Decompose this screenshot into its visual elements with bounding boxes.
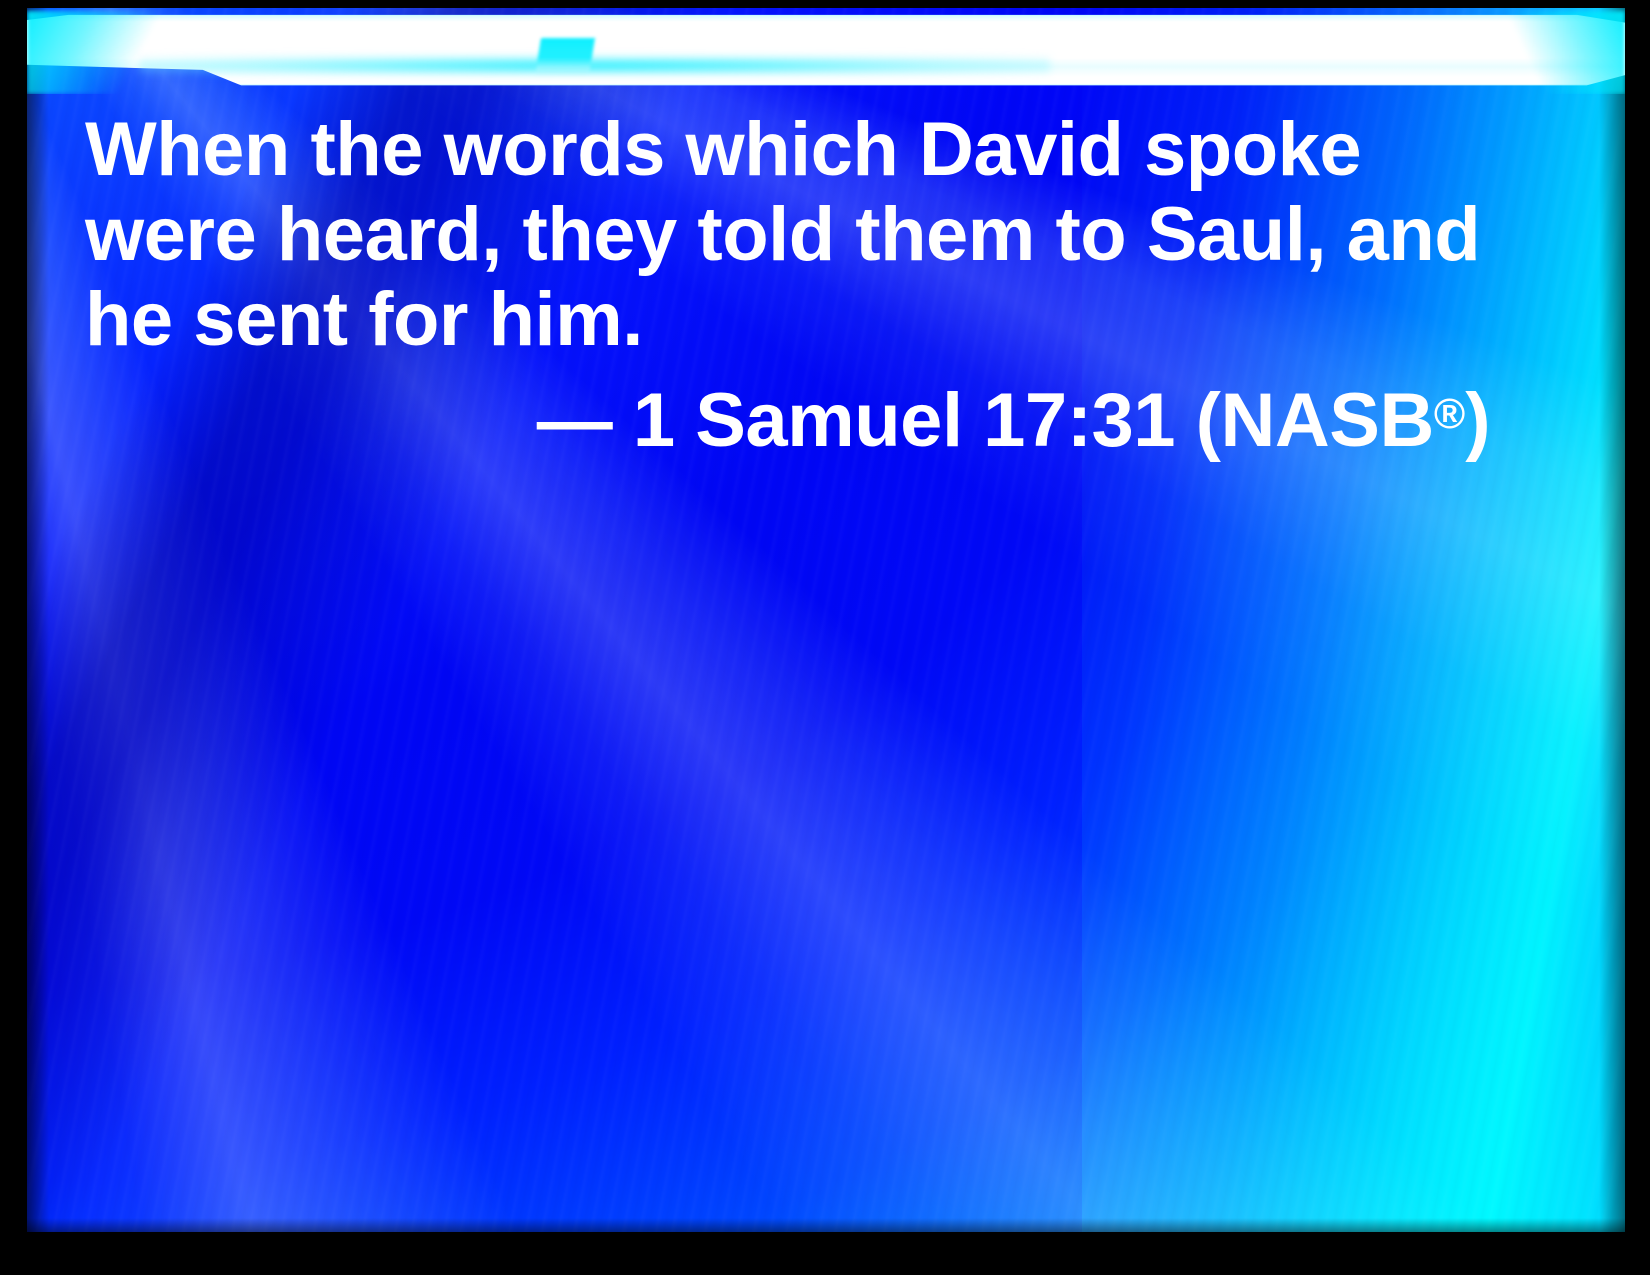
verse-attribution: — 1 Samuel 17:31 (NASB®) (85, 372, 1490, 463)
verse-block: When the words which David spoke were he… (85, 107, 1505, 362)
attribution-translation-open: (NASB (1196, 378, 1434, 463)
attribution-reference: 1 Samuel 17:31 (633, 378, 1175, 463)
attribution-translation-close: ) (1465, 378, 1490, 463)
attribution-spacer-1 (612, 378, 633, 463)
slide-frame: When the words which David spoke were he… (0, 0, 1650, 1275)
attribution-dash: — (537, 378, 613, 463)
verse-text: When the words which David spoke were he… (85, 107, 1505, 362)
attribution-spacer-2 (1175, 378, 1196, 463)
registered-trademark-icon: ® (1434, 390, 1465, 438)
